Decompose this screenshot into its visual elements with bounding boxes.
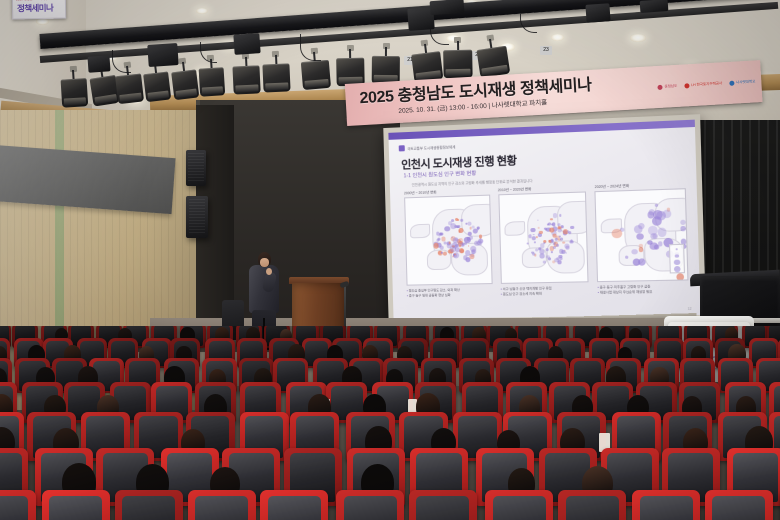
map-dot-increase — [476, 228, 479, 231]
map-dot-increase — [452, 237, 458, 243]
banner-logo-text: LH 한국토지주택공사 — [691, 81, 722, 88]
wall-speaker-lower — [186, 196, 208, 238]
spotlight-lens-icon — [265, 82, 288, 90]
stage-spotlight — [198, 59, 225, 100]
banner-logo-text: 나사렛대학교 — [736, 79, 756, 85]
downlight-icon-11 — [551, 34, 564, 41]
auditorium-seat[interactable] — [558, 490, 626, 520]
map-legend-swatch — [676, 248, 678, 250]
map-plot — [498, 191, 589, 283]
auditorium-seat[interactable] — [188, 490, 256, 520]
downlight-icon-12 — [630, 34, 646, 42]
map-caption: ▪ 중구·동구 일대 공동화 현상 심화 — [407, 292, 493, 298]
map-dot-increase — [632, 259, 639, 266]
map-dot-increase — [564, 243, 569, 248]
spotlight-body — [143, 71, 171, 102]
auditorium-seat[interactable] — [632, 490, 700, 520]
seminar-photo-scene: 212223 2025 충청남도 도시재생 정책세미나 2025. 10. 31… — [0, 0, 780, 520]
map-dot-decrease — [460, 249, 464, 253]
spotlight-lens-icon — [119, 92, 141, 101]
auditorium-seat[interactable] — [42, 490, 110, 520]
truss-equipment-box — [147, 43, 178, 67]
spotlight-body — [301, 60, 331, 90]
map-dot-increase — [445, 226, 450, 231]
spotlight-body — [476, 46, 510, 78]
map-dot-increase — [540, 254, 545, 259]
map-caption-list: ▪ 서구·남동구 신규 택지개발 인구 유입▪ 원도심 인구 감소세 지속 확대 — [501, 285, 590, 296]
stage-spotlight — [443, 41, 473, 82]
podium-sign-line2: 정책세미나 — [17, 2, 53, 15]
map-dot-increase — [634, 225, 643, 234]
map-dot-increase — [439, 245, 443, 249]
auditorium-seat[interactable] — [0, 490, 36, 520]
map-dot-decrease — [448, 241, 451, 244]
map-caption-text: 원도심 인구 감소세 지속 확대 — [503, 291, 542, 296]
auditorium-seat[interactable] — [115, 490, 183, 520]
truss-cable — [300, 34, 321, 61]
map-landmass — [410, 224, 430, 239]
map-dot-increase — [647, 240, 652, 245]
podium-sign-line1: 2025 충청남도 도시재생 — [16, 0, 48, 1]
slide-page-number: 12 — [688, 307, 692, 311]
map-legend-decrease-swatch — [676, 273, 684, 280]
map-caption-list: ▪ 원도심 중심부 인구밀도 감소, 외곽 확산▪ 중구·동구 일대 공동화 현… — [407, 287, 493, 298]
map-dot-increase — [663, 209, 672, 218]
banner-logo: LH 한국토지주택공사 — [684, 81, 722, 88]
downlight-icon-5 — [196, 8, 208, 14]
map-legend-swatch — [674, 260, 680, 266]
map-dot-increase — [441, 252, 443, 254]
truss-equipment-box — [87, 55, 110, 72]
map-caption-text: 재생사업 대상지 우선순위 재설정 필요 — [600, 289, 653, 294]
podium-sign: 2025 충청남도 도시재생 정책세미나 — [12, 0, 66, 19]
spotlight-body — [61, 78, 89, 108]
map-dot-increase — [632, 249, 638, 255]
slide-map-panel: 2020년 ~ 2024년 변화▪ 중구·동구·미추홀구 고령화 인구 급증▪ … — [595, 181, 689, 295]
spotlight-body — [171, 69, 199, 100]
slide-map-panel: 2010년 ~ 2020년 변화▪ 서구·남동구 신규 택지개발 인구 유입▪ … — [498, 184, 589, 296]
audience-seating — [0, 326, 780, 520]
map-dot-increase — [464, 242, 467, 245]
auditorium-seat[interactable] — [705, 490, 773, 520]
map-dot-decrease — [442, 237, 446, 241]
banner-logo: 충청남도 — [657, 84, 677, 90]
map-dot-increase — [560, 237, 563, 240]
map-legend — [669, 244, 685, 274]
truss-equipment-box — [233, 33, 260, 55]
spotlight-body — [199, 68, 226, 97]
map-caption: ▪ 원도심 인구 감소세 지속 확대 — [501, 290, 590, 296]
stage-spotlight — [262, 54, 291, 95]
map-plot — [404, 195, 492, 286]
map-legend-swatch — [675, 254, 679, 258]
spotlight-lens-icon — [202, 87, 223, 95]
map-dot-increase — [444, 241, 447, 244]
slide-logo-mark-icon — [399, 145, 405, 151]
spotlight-body — [115, 73, 144, 104]
auditorium-seat[interactable] — [336, 490, 404, 520]
map-dot-increase — [570, 225, 573, 228]
projection-screen-frame: 국토교통부 도시재생종합정보체계 인천시 도시재생 진행 현황 1-1 인천시 … — [383, 114, 706, 324]
map-dot-increase — [448, 221, 452, 225]
projection-screen: 국토교통부 도시재생종합정보체계 인천시 도시재생 진행 현황 1-1 인천시 … — [388, 120, 700, 319]
slide-subtitle: 1-1 인천시 원도심 인구 변화 현황 — [403, 170, 476, 180]
slide-logo-text: 국토교통부 도시재생종합정보체계 — [407, 144, 455, 151]
map-dot-increase — [681, 226, 686, 231]
slide-logo: 국토교통부 도시재생종합정보체계 — [399, 143, 456, 151]
wall-speaker-upper — [186, 150, 206, 186]
stage-spotlight — [170, 60, 200, 103]
map-caption: ▪ 재생사업 대상지 우선순위 재설정 필요 — [598, 288, 689, 294]
presenter-hand — [266, 268, 272, 275]
map-dot-increase — [570, 240, 573, 243]
stage-spotlight — [60, 69, 88, 111]
banner-logo: 나사렛대학교 — [729, 79, 755, 86]
stage-spotlight — [232, 56, 261, 97]
map-dot-increase — [558, 260, 562, 264]
map-dot-decrease — [539, 231, 542, 234]
banner-logo-text: 충청남도 — [664, 84, 677, 90]
auditorium-seat[interactable] — [409, 490, 477, 520]
spotlight-body — [372, 56, 400, 84]
map-caption-list: ▪ 중구·동구·미추홀구 고령화 인구 급증▪ 재생사업 대상지 우선순위 재설… — [597, 284, 688, 295]
spotlight-lens-icon — [235, 84, 258, 92]
map-dot-increase — [533, 234, 534, 235]
map-legend-swatch — [673, 265, 681, 272]
slide-map-row: 2000년 ~ 2010년 변화▪ 원도심 중심부 인구밀도 감소, 외곽 확산… — [404, 181, 689, 298]
spotlight-lens-icon — [305, 79, 329, 88]
map-dot-decrease — [612, 228, 622, 238]
truss-equipment-box — [430, 0, 465, 15]
map-dot-decrease — [433, 243, 439, 248]
map-dot-increase — [553, 245, 556, 248]
truss-equipment-box — [640, 0, 669, 13]
spotlight-body — [232, 65, 260, 94]
spotlight-lens-icon — [64, 97, 86, 105]
map-dot-increase — [657, 228, 666, 237]
map-dot-increase — [552, 222, 556, 226]
spotlight-body — [262, 63, 290, 92]
downlight-icon-0 — [36, 18, 49, 25]
map-dot-increase — [478, 238, 483, 243]
map-dot-increase — [466, 237, 470, 241]
banner-logo-mark-icon — [729, 81, 734, 86]
map-dot-increase — [565, 252, 567, 254]
spotlight-lens-icon — [147, 90, 169, 99]
map-caption-text: 중구·동구 일대 공동화 현상 심화 — [409, 293, 451, 298]
banner-logo-mark-icon — [657, 85, 662, 90]
map-dot-increase — [472, 226, 475, 229]
spotlight-body — [443, 50, 472, 79]
map-dot-decrease — [459, 245, 461, 247]
map-dot-increase — [534, 241, 536, 243]
presenter-face — [260, 258, 269, 267]
stage-spotlight — [142, 62, 172, 105]
spotlight-lens-icon — [94, 94, 117, 104]
banner-logo-group: 충청남도LH 한국토지주택공사나사렛대학교 — [657, 79, 755, 90]
map-dot-increase — [654, 204, 658, 207]
map-dot-decrease — [549, 228, 554, 233]
map-dot-increase — [556, 244, 559, 247]
truss-equipment-box — [585, 3, 610, 23]
map-dot-decrease — [548, 240, 551, 243]
banner-logo-mark-icon — [684, 83, 689, 88]
map-landmass — [504, 221, 525, 236]
map-dot-increase — [543, 260, 546, 263]
truss-label: 23 — [540, 46, 552, 55]
map-dot-decrease — [538, 227, 540, 229]
spotlight-lens-icon — [446, 69, 470, 76]
auditorium-seat[interactable] — [485, 490, 553, 520]
map-dot-increase — [440, 232, 443, 235]
map-dot-decrease — [559, 226, 562, 229]
map-dot-increase — [550, 251, 552, 253]
spotlight-lens-icon — [175, 88, 197, 97]
auditorium-seat[interactable] — [260, 490, 328, 520]
map-plot — [595, 188, 689, 282]
slide-map-panel: 2000년 ~ 2010년 변화▪ 원도심 중심부 인구밀도 감소, 외곽 확산… — [404, 187, 493, 297]
